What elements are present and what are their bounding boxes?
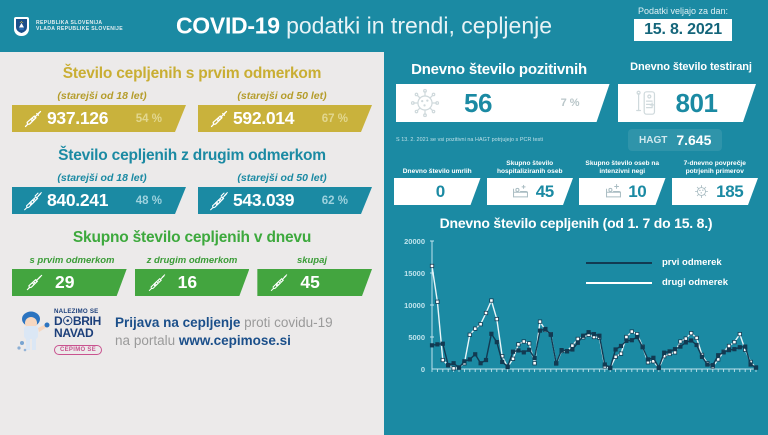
double-syringe-icon [267,273,291,292]
stat-icu-pill: 10 [579,178,666,205]
registration-url[interactable]: www.cepimose.si [179,333,291,348]
daily-total-pills: 29 16 [0,269,384,296]
second-dose-pill-18: 840.241 48 % [12,187,186,214]
syringe-icon [22,273,46,292]
registration-text: Prijava na cepljenje proti covidu-19 na … [115,314,333,350]
icu-bed-icon [604,183,622,200]
hagt-badge: HAGT 7.645 [628,129,722,151]
second-dose-sublabels: (starejši od 18 let) (starejši od 50 let… [0,172,384,184]
svg-text:10000: 10000 [404,301,425,310]
hospital-bed-icon [512,183,530,200]
second-dose-value-50: 543.039 [233,190,294,211]
right-top-titles: Dnevno število pozitivnih Dnevno število… [384,61,768,78]
stat-icu-value: 10 [628,182,646,202]
first-dose-sublabel-18: (starejši od 18 let) [22,90,182,102]
daily-total-sublabel-total: skupaj [252,255,372,266]
stat-icu: Skupno število oseb na intenzivni negi [579,160,666,205]
right-top-pills: 56 7 % 80 [384,84,768,122]
first-dose-sublabels: (starejši od 18 let) (starejši od 50 let… [0,90,384,102]
test-tube-icon [630,88,664,118]
daily-total-sublabels: s prvim odmerkom z drugim odmerkom skupa… [0,255,384,266]
registration-line-2-rest: na portalu [115,333,179,348]
stat-hospitalized-value: 45 [536,182,554,202]
second-dose-title: Število cepljenih z drugim odmerkom [0,147,384,165]
tests-title: Dnevno število testiranj [614,61,768,73]
registration-line-1-bold: Prijava na cepljenje [115,315,240,330]
first-dose-value-18: 937.126 [47,108,108,129]
daily-total-sublabel-first: s prvim odmerkom [12,255,132,266]
logo-wordmark: NALEZIMO SE D☉BRIH NAVAD CEPIMO SE [54,309,102,355]
first-dose-sublabel-50: (starejši od 50 let) [202,90,362,102]
second-dose-value-18: 840.241 [47,190,108,211]
second-dose-pill-50: 543.039 62 % [198,187,372,214]
first-dose-section: Število cepljenih s prvim odmerkom (star… [0,65,384,132]
positives-value: 56 [464,88,492,119]
first-dose-pill-18: 937.126 54 % [12,105,186,132]
registration-line-1: Prijava na cepljenje proti covidu-19 [115,314,333,332]
mascot-icon [14,310,52,354]
stat-7day-average-label: 7-dnevno povprečje potrjenih primerov [672,160,759,178]
stat-hospitalized: Skupno število hospitaliziranih oseb [487,160,574,205]
stat-7day-average-value: 185 [716,182,743,202]
slovenia-coat-of-arms-icon [14,17,29,36]
government-logo: REPUBLIKA SLOVENIJA VLADA REPUBLIKE SLOV… [14,17,123,36]
daily-total-value-second: 16 [178,272,197,293]
quad-stats: Dnevno število umrlih 0 Skupno število h… [384,160,768,205]
svg-text:0: 0 [421,365,425,374]
double-syringe-icon [21,191,45,211]
right-footnote-row: S 13. 2. 2021 se vsi pozitivni na HAGT p… [384,129,768,151]
registration-line-2: na portalu www.cepimose.si [115,332,333,350]
syringe-icon [207,109,231,129]
page-title: COVID-19 podatki in trendi, cepljenje [176,13,552,40]
legend-swatch-second-dose [586,282,652,284]
date-label: Podatki veljajo za dan: [616,6,750,16]
chart-legend: prvi odmerek drugi odmerek [586,257,728,297]
first-dose-pills: 937.126 54 % [0,105,384,132]
tests-title-col: Dnevno število testiranj [614,61,768,78]
stat-deaths-label: Dnevno število umrlih [394,160,481,178]
hagt-label: HAGT [639,135,667,146]
stat-icu-label: Skupno število oseb na intenzivni negi [579,160,666,178]
first-dose-pct-50: 67 % [322,113,348,125]
second-dose-pct-18: 48 % [136,195,162,207]
header-bar: REPUBLIKA SLOVENIJA VLADA REPUBLIKE SLOV… [0,0,768,52]
stat-hospitalized-label: Skupno število hospitaliziranih oseb [487,160,574,178]
positives-title-col: Dnevno število pozitivnih [384,61,614,78]
right-panel: Dnevno število pozitivnih Dnevno število… [384,52,768,435]
positives-pill: 56 7 % [396,84,610,122]
stat-7day-average: 7-dnevno povprečje potrjenih primerov [672,160,759,205]
stat-deaths-pill: 0 [394,178,481,205]
daily-total-title: Skupno število cepljenih v dnevu [0,229,384,247]
positives-footnote: S 13. 2. 2021 se vsi pozitivni na HAGT p… [396,137,612,143]
syringe-icon [21,109,45,129]
stat-deaths-value: 0 [436,182,445,202]
first-dose-value-50: 592.014 [233,108,294,129]
logo-badge: CEPIMO SE [54,345,102,355]
chart-title: Dnevno število cepljenih (od 1. 7 do 15.… [390,215,762,231]
daily-total-pill-first: 29 [12,269,127,296]
legend-swatch-first-dose [586,262,652,264]
date-block: Podatki veljajo za dan: 15. 8. 2021 [616,6,750,41]
registration-section: NALEZIMO SE D☉BRIH NAVAD CEPIMO SE Prija… [0,309,384,355]
chart-plot-area: 05000100001500020000 prvi odmerek drugi … [390,235,762,387]
cepimo-se-logo: NALEZIMO SE D☉BRIH NAVAD CEPIMO SE [14,309,102,355]
daily-total-section: Skupno število cepljenih v dnevu s prvim… [0,229,384,296]
stat-hospitalized-pill: 45 [487,178,574,205]
daily-total-pill-total: 45 [257,269,372,296]
stat-deaths: Dnevno število umrlih 0 [394,160,481,205]
daily-total-sublabel-second: z drugim odmerkom [132,255,252,266]
second-dose-section: Število cepljenih z drugim odmerkom (sta… [0,147,384,214]
date-value: 15. 8. 2021 [634,19,732,41]
svg-text:15000: 15000 [404,269,425,278]
second-dose-sublabel-18: (starejši od 18 let) [22,172,182,184]
double-syringe-icon [145,273,169,292]
second-dose-pills: 840.241 48 % [0,187,384,214]
positives-title: Dnevno število pozitivnih [384,61,614,78]
hagt-value: 7.645 [676,132,711,148]
daily-total-value-total: 45 [300,272,319,293]
second-dose-sublabel-50: (starejši od 50 let) [202,172,362,184]
legend-label-second-dose: drugi odmerek [662,277,728,288]
first-dose-title: Število cepljenih s prvim odmerkom [0,65,384,83]
second-dose-pct-50: 62 % [322,195,348,207]
legend-item-second-dose: drugi odmerek [586,277,728,288]
government-name: REPUBLIKA SLOVENIJA VLADA REPUBLIKE SLOV… [36,20,123,33]
virus-icon [408,88,442,118]
first-dose-pct-18: 54 % [136,113,162,125]
stat-7day-average-pill: 185 [672,178,759,205]
gov-line-2: VLADA REPUBLIKE SLOVENIJE [36,26,123,32]
infographic-page: REPUBLIKA SLOVENIJA VLADA REPUBLIKE SLOV… [0,0,768,435]
daily-total-pill-second: 16 [135,269,250,296]
virus-icon [692,183,710,200]
svg-text:20000: 20000 [404,237,425,246]
tests-value: 801 [676,88,718,119]
double-syringe-icon [207,191,231,211]
tests-pill: 801 [618,84,756,122]
svg-text:5000: 5000 [408,333,425,342]
daily-total-value-first: 29 [55,272,74,293]
registration-line-1-rest: proti covidu-19 [240,315,332,330]
body-split: Število cepljenih s prvim odmerkom (star… [0,52,768,435]
first-dose-pill-50: 592.014 67 % [198,105,372,132]
legend-item-first-dose: prvi odmerek [586,257,728,268]
page-title-rest: podatki in trendi, cepljenje [280,13,552,39]
logo-word-3: NAVAD [54,327,102,339]
left-panel: Število cepljenih s prvim odmerkom (star… [0,52,384,435]
positives-pct: 7 % [561,97,580,109]
legend-label-first-dose: prvi odmerek [662,257,722,268]
vaccination-chart: Dnevno število cepljenih (od 1. 7 do 15.… [384,215,768,387]
page-title-bold: COVID-19 [176,13,280,39]
